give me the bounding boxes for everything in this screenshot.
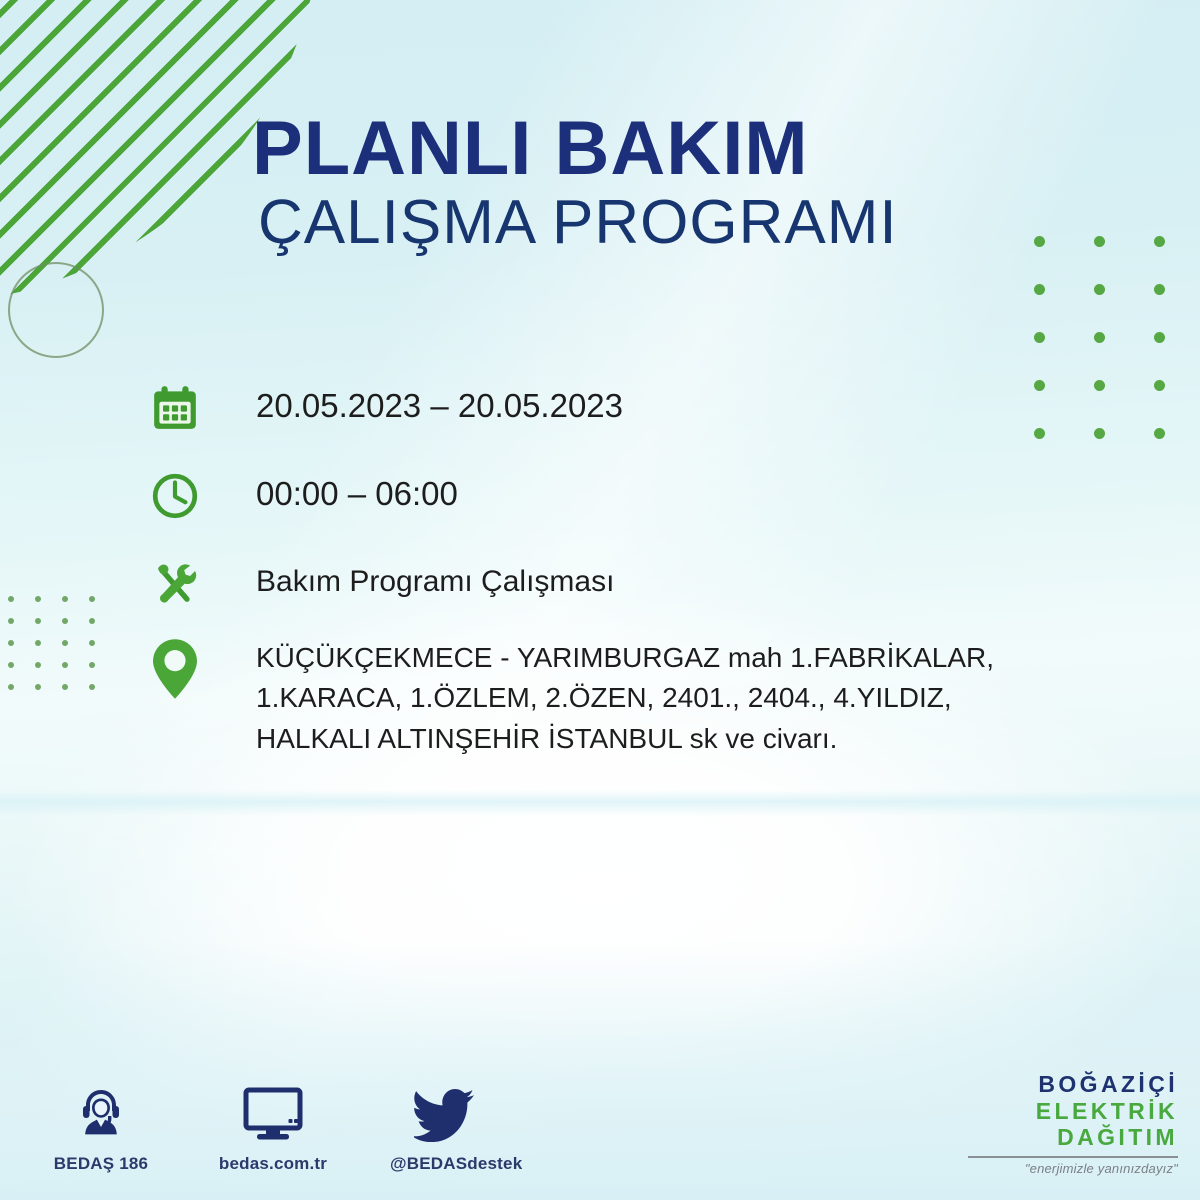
info-row-date: 20.05.2023 – 20.05.2023 [146, 378, 1046, 438]
calendar-icon [146, 378, 204, 438]
info-row-location: KÜÇÜKÇEKMECE - YARIMBURGAZ mah 1.FABRİKA… [146, 636, 1046, 759]
logo-line-dagitim: DAĞITIM [968, 1124, 1178, 1151]
info-row-work-type: Bakım Programı Çalışması [146, 554, 1046, 614]
logo-divider [968, 1156, 1178, 1158]
tools-icon [146, 554, 204, 614]
logo-line-bogazici: BOĞAZİÇİ [968, 1071, 1178, 1098]
info-list: 20.05.2023 – 20.05.2023 00:00 – 06:00 [146, 378, 1046, 787]
outline-circle-decoration [8, 262, 104, 358]
dot-grid-left-decoration [8, 596, 116, 706]
headset-agent-icon [46, 1080, 156, 1142]
footer-contacts: BEDAŞ 186 bedas.com.tr @BEDASdestek [46, 1080, 500, 1174]
poster-header: PLANLI BAKIM ÇALIŞMA PROGRAMI [252, 112, 1012, 254]
page-subtitle: ÇALIŞMA PROGRAMI [258, 192, 1012, 254]
date-range-value: 20.05.2023 – 20.05.2023 [204, 378, 623, 428]
contact-website-label: bedas.com.tr [218, 1154, 328, 1174]
logo-slogan: "enerjimizle yanınızdayız" [968, 1161, 1178, 1176]
contact-phone[interactable]: BEDAŞ 186 [46, 1080, 156, 1174]
contact-twitter-label: @BEDASdestek [390, 1154, 500, 1174]
poster-canvas: PLANLI BAKIM ÇALIŞMA PROGRAMI [0, 0, 1200, 1200]
dot-grid-right-decoration [1034, 236, 1200, 476]
location-pin-icon [146, 636, 204, 708]
time-range-value: 00:00 – 06:00 [204, 466, 458, 516]
affected-area-value: KÜÇÜKÇEKMECE - YARIMBURGAZ mah 1.FABRİKA… [204, 636, 1046, 759]
contact-website[interactable]: bedas.com.tr [218, 1080, 328, 1174]
clock-icon [146, 466, 204, 526]
background-horizontal-band [0, 790, 1200, 816]
contact-phone-label: BEDAŞ 186 [46, 1154, 156, 1174]
monitor-icon [218, 1080, 328, 1142]
company-logo: BOĞAZİÇİ ELEKTRİK DAĞITIM "enerjimizle y… [968, 1071, 1178, 1176]
info-row-time: 00:00 – 06:00 [146, 466, 1046, 526]
page-title: PLANLI BAKIM [252, 112, 1012, 186]
contact-twitter[interactable]: @BEDASdestek [390, 1080, 500, 1174]
work-type-value: Bakım Programı Çalışması [204, 554, 614, 602]
twitter-bird-icon [390, 1080, 500, 1142]
logo-line-elektrik: ELEKTRİK [968, 1098, 1178, 1125]
